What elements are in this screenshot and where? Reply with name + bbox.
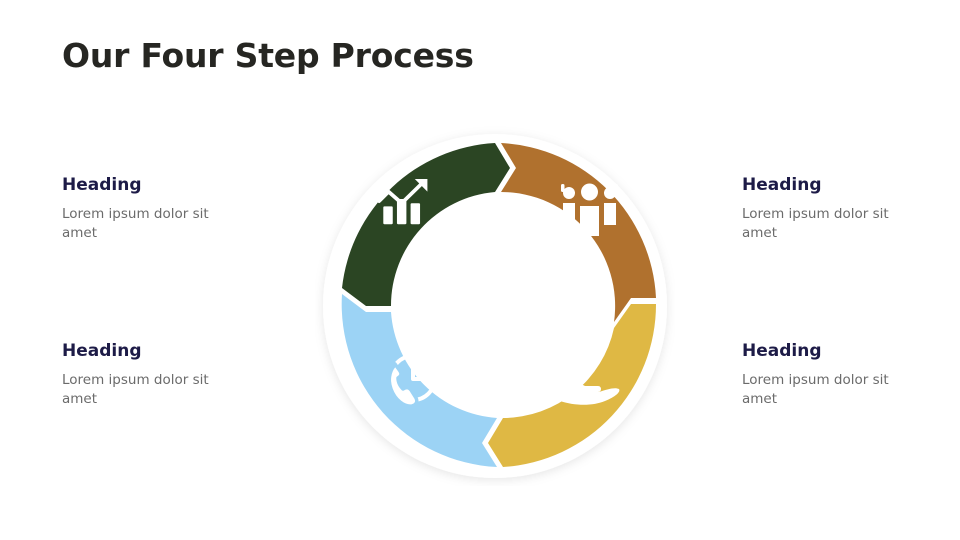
info-block-heading: Heading [742, 176, 952, 195]
info-block-body: Lorem ipsum dolor sit amet [62, 205, 212, 244]
info-block-body: Lorem ipsum dolor sit amet [742, 371, 892, 410]
diagram-center-hub [403, 214, 587, 398]
four-step-cycle-diagram: $ [315, 126, 675, 486]
slide-canvas: Our Four Step Process Heading Lorem ipsu… [0, 0, 960, 540]
page-title: Our Four Step Process [62, 36, 474, 75]
info-block-body: Lorem ipsum dolor sit amet [62, 371, 212, 410]
info-block-heading: Heading [742, 342, 952, 361]
info-block-heading: Heading [62, 176, 272, 195]
info-block-bottom-left: Heading Lorem ipsum dolor sit amet [62, 342, 272, 410]
info-block-top-right: Heading Lorem ipsum dolor sit amet [742, 176, 952, 244]
info-block-body: Lorem ipsum dolor sit amet [742, 205, 892, 244]
info-block-top-left: Heading Lorem ipsum dolor sit amet [62, 176, 272, 244]
info-block-heading: Heading [62, 342, 272, 361]
info-block-bottom-right: Heading Lorem ipsum dolor sit amet [742, 342, 952, 410]
